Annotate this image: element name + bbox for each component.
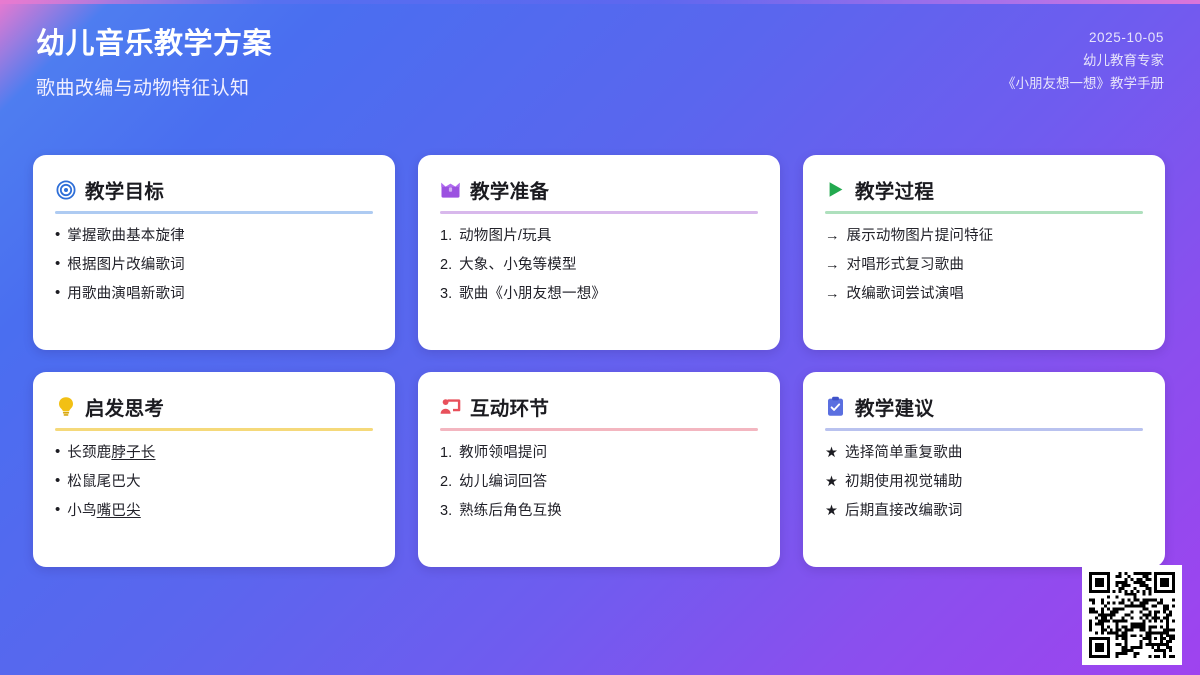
play-triangle-icon xyxy=(825,179,846,200)
presenter-icon xyxy=(440,396,461,417)
package-box-icon xyxy=(440,179,461,200)
list-item-text: 掌握歌曲基本旋律 xyxy=(67,227,185,245)
list-item: •小鸟嘴巴尖 xyxy=(55,502,373,520)
qr-code-image xyxy=(1089,572,1175,658)
page-subtitle: 歌曲改编与动物特征认知 xyxy=(36,73,272,100)
card-items: •长颈鹿脖子长•松鼠尾巴大•小鸟嘴巴尖 xyxy=(55,444,373,520)
list-item: ★后期直接改编歌词 xyxy=(825,502,1143,520)
card-header: 互动环节 xyxy=(440,392,758,428)
cards-grid: 教学目标•掌握歌曲基本旋律•根据图片改编歌词•用歌曲演唱新歌词 教学准备1.动物… xyxy=(33,155,1167,567)
card-title-underline xyxy=(55,428,373,431)
card-title: 互动环节 xyxy=(470,392,549,421)
list-item: •长颈鹿脖子长 xyxy=(55,444,373,462)
list-item: 2.幼儿编词回答 xyxy=(440,473,758,491)
list-item: •掌握歌曲基本旋律 xyxy=(55,227,373,245)
card-process: 教学过程→展示动物图片提问特征→对唱形式复习歌曲→改编歌词尝试演唱 xyxy=(803,155,1165,350)
list-item-text: 改编歌词尝试演唱 xyxy=(847,285,965,303)
list-item-text: 小鸟嘴巴尖 xyxy=(67,502,141,520)
list-item-text: 根据图片改编歌词 xyxy=(67,256,185,274)
qr-code[interactable] xyxy=(1082,565,1182,665)
list-item-marker: 2. xyxy=(440,256,452,274)
card-items: →展示动物图片提问特征→对唱形式复习歌曲→改编歌词尝试演唱 xyxy=(825,227,1143,303)
list-item: 1.教师领唱提问 xyxy=(440,444,758,462)
list-item-text: 松鼠尾巴大 xyxy=(67,473,141,491)
card-thinking: 启发思考•长颈鹿脖子长•松鼠尾巴大•小鸟嘴巴尖 xyxy=(33,372,395,567)
card-header: 教学目标 xyxy=(55,175,373,211)
list-item-text: 大象、小兔等模型 xyxy=(459,256,577,274)
list-item-text: 对唱形式复习歌曲 xyxy=(847,256,965,274)
target-icon xyxy=(55,179,76,200)
list-item: •松鼠尾巴大 xyxy=(55,473,373,491)
list-item-marker: 1. xyxy=(440,444,452,462)
list-item: •根据图片改编歌词 xyxy=(55,256,373,274)
header-date: 2025-10-05 xyxy=(1002,26,1164,49)
card-items: 1.教师领唱提问2.幼儿编词回答3.熟练后角色互换 xyxy=(440,444,758,520)
list-item-marker: → xyxy=(825,256,840,274)
list-item-marker: • xyxy=(55,444,60,459)
list-item-marker: ★ xyxy=(825,444,838,462)
list-item: →改编歌词尝试演唱 xyxy=(825,285,1143,303)
page-header: 幼儿音乐教学方案 歌曲改编与动物特征认知 2025-10-05 幼儿教育专家 《… xyxy=(0,0,1200,130)
card-header: 启发思考 xyxy=(55,392,373,428)
list-item: 1.动物图片/玩具 xyxy=(440,227,758,245)
list-item: •用歌曲演唱新歌词 xyxy=(55,285,373,303)
list-item: 3.熟练后角色互换 xyxy=(440,502,758,520)
list-item: →对唱形式复习歌曲 xyxy=(825,256,1143,274)
card-items: 1.动物图片/玩具2.大象、小兔等模型3.歌曲《小朋友想一想》 xyxy=(440,227,758,303)
list-item: 3.歌曲《小朋友想一想》 xyxy=(440,285,758,303)
list-item-marker: • xyxy=(55,227,60,242)
card-advice: 教学建议★选择简单重复歌曲★初期使用视觉辅助★后期直接改编歌词 xyxy=(803,372,1165,567)
list-item-marker: 1. xyxy=(440,227,452,245)
list-item-text: 教师领唱提问 xyxy=(459,444,547,462)
list-item-text: 歌曲《小朋友想一想》 xyxy=(459,285,606,303)
card-preparation: 教学准备1.动物图片/玩具2.大象、小兔等模型3.歌曲《小朋友想一想》 xyxy=(418,155,780,350)
header-source: 《小朋友想一想》教学手册 xyxy=(1002,72,1164,95)
card-title: 教学准备 xyxy=(470,175,549,204)
title-block: 幼儿音乐教学方案 歌曲改编与动物特征认知 xyxy=(36,26,272,100)
card-title: 教学建议 xyxy=(855,392,934,421)
list-item-text: 动物图片/玩具 xyxy=(459,227,551,245)
list-item-text: 选择简单重复歌曲 xyxy=(845,444,963,462)
list-item: ★初期使用视觉辅助 xyxy=(825,473,1143,491)
list-item-marker: 3. xyxy=(440,502,452,520)
list-item: 2.大象、小兔等模型 xyxy=(440,256,758,274)
header-author: 幼儿教育专家 xyxy=(1002,49,1164,72)
card-title-underline xyxy=(440,428,758,431)
card-title-underline xyxy=(55,211,373,214)
card-objectives: 教学目标•掌握歌曲基本旋律•根据图片改编歌词•用歌曲演唱新歌词 xyxy=(33,155,395,350)
card-title: 教学过程 xyxy=(855,175,934,204)
card-title-underline xyxy=(825,428,1143,431)
card-title-underline xyxy=(825,211,1143,214)
clipboard-check-icon xyxy=(825,396,846,417)
list-item-text: 长颈鹿脖子长 xyxy=(67,444,155,462)
list-item-text: 用歌曲演唱新歌词 xyxy=(67,285,185,303)
card-header: 教学准备 xyxy=(440,175,758,211)
list-item-text: 后期直接改编歌词 xyxy=(845,502,963,520)
list-item-text: 初期使用视觉辅助 xyxy=(845,473,963,491)
card-header: 教学建议 xyxy=(825,392,1143,428)
list-item-marker: → xyxy=(825,285,840,303)
list-item-marker: • xyxy=(55,256,60,271)
card-title-underline xyxy=(440,211,758,214)
list-item-marker: • xyxy=(55,502,60,517)
list-item-marker: • xyxy=(55,285,60,300)
list-item-marker: ★ xyxy=(825,502,838,520)
page-title: 幼儿音乐教学方案 xyxy=(36,26,272,64)
lightbulb-icon xyxy=(55,396,76,417)
list-item: →展示动物图片提问特征 xyxy=(825,227,1143,245)
list-item-text: 幼儿编词回答 xyxy=(459,473,547,491)
list-item-marker: → xyxy=(825,227,840,245)
header-meta: 2025-10-05 幼儿教育专家 《小朋友想一想》教学手册 xyxy=(1002,26,1164,96)
list-item: ★选择简单重复歌曲 xyxy=(825,444,1143,462)
card-header: 教学过程 xyxy=(825,175,1143,211)
card-interaction: 互动环节1.教师领唱提问2.幼儿编词回答3.熟练后角色互换 xyxy=(418,372,780,567)
list-item-marker: ★ xyxy=(825,473,838,491)
card-items: •掌握歌曲基本旋律•根据图片改编歌词•用歌曲演唱新歌词 xyxy=(55,227,373,303)
list-item-marker: 2. xyxy=(440,473,452,491)
list-item-marker: 3. xyxy=(440,285,452,303)
card-items: ★选择简单重复歌曲★初期使用视觉辅助★后期直接改编歌词 xyxy=(825,444,1143,520)
card-title: 启发思考 xyxy=(85,392,164,421)
list-item-text: 展示动物图片提问特征 xyxy=(847,227,994,245)
list-item-text: 熟练后角色互换 xyxy=(459,502,562,520)
list-item-marker: • xyxy=(55,473,60,488)
card-title: 教学目标 xyxy=(85,175,164,204)
